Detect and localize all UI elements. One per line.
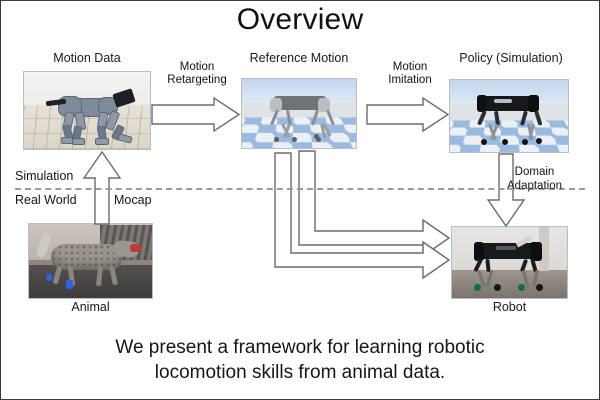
arrow-motion-retargeting: [152, 97, 240, 132]
label-line-1: Motion: [180, 61, 215, 73]
label-real-world: Real World: [15, 193, 77, 207]
grey-quadruped-figure: [264, 93, 338, 141]
caption-animal: Animal: [28, 300, 153, 314]
panel-motion-data[interactable]: [23, 71, 151, 150]
label-simulation: Simulation: [15, 169, 73, 183]
slide-caption: We present a framework for learning robo…: [41, 335, 559, 385]
slide-canvas: Overview Motion Data Reference Motion Po…: [0, 0, 600, 400]
label-domain-adaptation: Domain Adaptation: [507, 165, 562, 193]
caption-line-2: locomotion skills from animal data.: [41, 360, 559, 385]
floor-surface: [452, 270, 567, 298]
arrow-animal-to-robot: [273, 153, 455, 285]
panel-reference-motion[interactable]: [241, 78, 357, 149]
label-motion-retargeting: Motion Retargeting: [161, 61, 233, 87]
panel-animal[interactable]: [28, 223, 153, 299]
caption-motion-data: Motion Data: [23, 51, 151, 65]
caption-reference-motion: Reference Motion: [236, 51, 362, 65]
blue-marker: [46, 274, 52, 281]
black-quadruped-sim-figure: [470, 93, 550, 145]
caption-policy-simulation: Policy (Simulation): [446, 51, 576, 65]
arrow-motion-imitation: [367, 97, 449, 132]
label-mocap: Mocap: [114, 193, 152, 207]
caption-line-1: We present a framework for learning robo…: [115, 337, 484, 358]
label-line-1: Motion: [393, 61, 428, 73]
blue-marker: [66, 280, 73, 289]
panel-robot[interactable]: [451, 226, 568, 299]
label-line-1: Domain: [515, 166, 555, 178]
label-line-2: Imitation: [388, 74, 431, 86]
panel-policy-simulation[interactable]: [449, 79, 569, 153]
caption-robot: Robot: [451, 300, 568, 314]
label-motion-imitation: Motion Imitation: [377, 61, 443, 87]
page-title: Overview: [1, 3, 599, 37]
label-line-2: Adaptation: [507, 180, 562, 192]
label-line-2: Retargeting: [167, 74, 226, 86]
domain-divider-line: [15, 188, 585, 190]
